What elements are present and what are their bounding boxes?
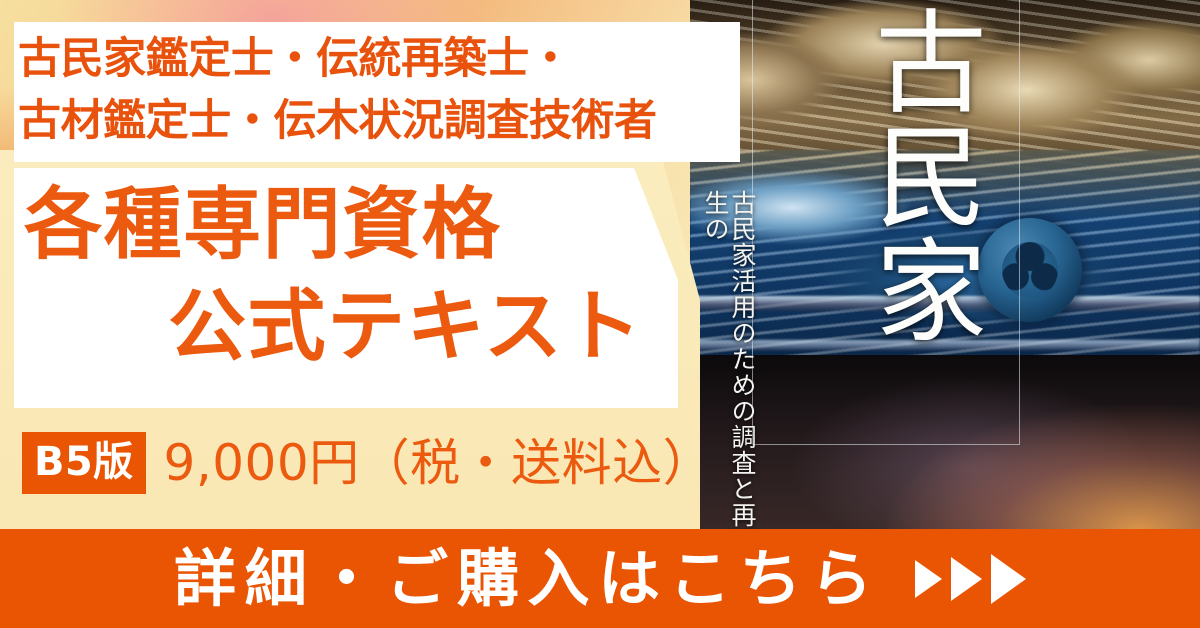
book-cover-title: 古民家	[778, 4, 992, 347]
promo-banner: 古民家 伝統構法 古民家活用のための調査と再生の 古民家鑑定士・伝統再築士・ 古…	[0, 0, 1200, 628]
page-title-secondary: 公式テキスト	[168, 288, 643, 366]
book-cover-photo: 古民家 伝統構法 古民家活用のための調査と再生の	[690, 0, 1200, 540]
cta-bar[interactable]: 詳細・ご購入はこちら	[0, 529, 1200, 628]
size-badge: B5版	[22, 432, 146, 494]
page-title-primary: 各種専門資格	[24, 186, 501, 264]
price-row: B5版 9,000円（税・送料込）	[22, 432, 713, 494]
cta-label: 詳細・ご購入はこちら	[174, 548, 881, 610]
triple-arrow-icon	[915, 554, 1026, 604]
price-text: 9,000円（税・送料込）	[164, 438, 714, 488]
qualification-headline: 古民家鑑定士・伝統再築士・ 古材鑑定士・伝木状況調査技術者	[18, 28, 724, 153]
